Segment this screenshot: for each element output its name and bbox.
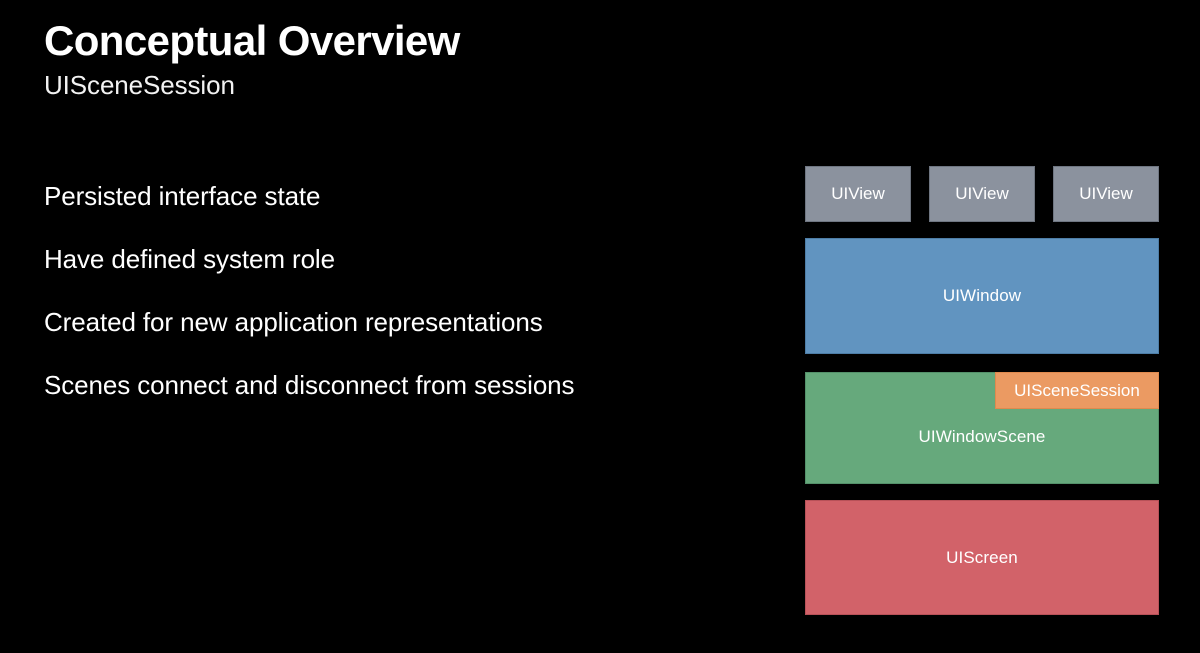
slide-header: Conceptual Overview UISceneSession: [44, 18, 744, 102]
uiscenesession-badge: UISceneSession: [995, 372, 1159, 409]
uiview-box-1: UIView: [805, 166, 911, 222]
uikit-hierarchy-diagram: UIView UIView UIView UIWindow UIWindowSc…: [805, 166, 1159, 615]
uiwindow-box-label: UIWindow: [943, 286, 1021, 306]
uiview-box-3: UIView: [1053, 166, 1159, 222]
uiview-box-3-label: UIView: [1079, 184, 1133, 204]
presentation-slide: Conceptual Overview UISceneSession Persi…: [0, 0, 1200, 653]
uiview-row: UIView UIView UIView: [805, 166, 1159, 222]
slide-subtitle: UISceneSession: [44, 70, 744, 101]
uiscreen-box: UIScreen: [805, 500, 1159, 615]
uiwindowscene-box-label: UIWindowScene: [919, 427, 1046, 447]
uiview-box-2: UIView: [929, 166, 1035, 222]
uiview-box-2-label: UIView: [955, 184, 1009, 204]
uiscenesession-badge-label: UISceneSession: [1014, 381, 1140, 401]
bullet-list: Persisted interface state Have defined s…: [44, 183, 744, 398]
list-item: Created for new application representati…: [44, 309, 744, 335]
list-item: Have defined system role: [44, 246, 744, 272]
page-title: Conceptual Overview: [44, 18, 744, 63]
list-item: Persisted interface state: [44, 183, 744, 209]
list-item: Scenes connect and disconnect from sessi…: [44, 372, 744, 398]
uiscreen-box-label: UIScreen: [946, 548, 1018, 568]
uiview-box-1-label: UIView: [831, 184, 885, 204]
uiwindow-box: UIWindow: [805, 238, 1159, 354]
